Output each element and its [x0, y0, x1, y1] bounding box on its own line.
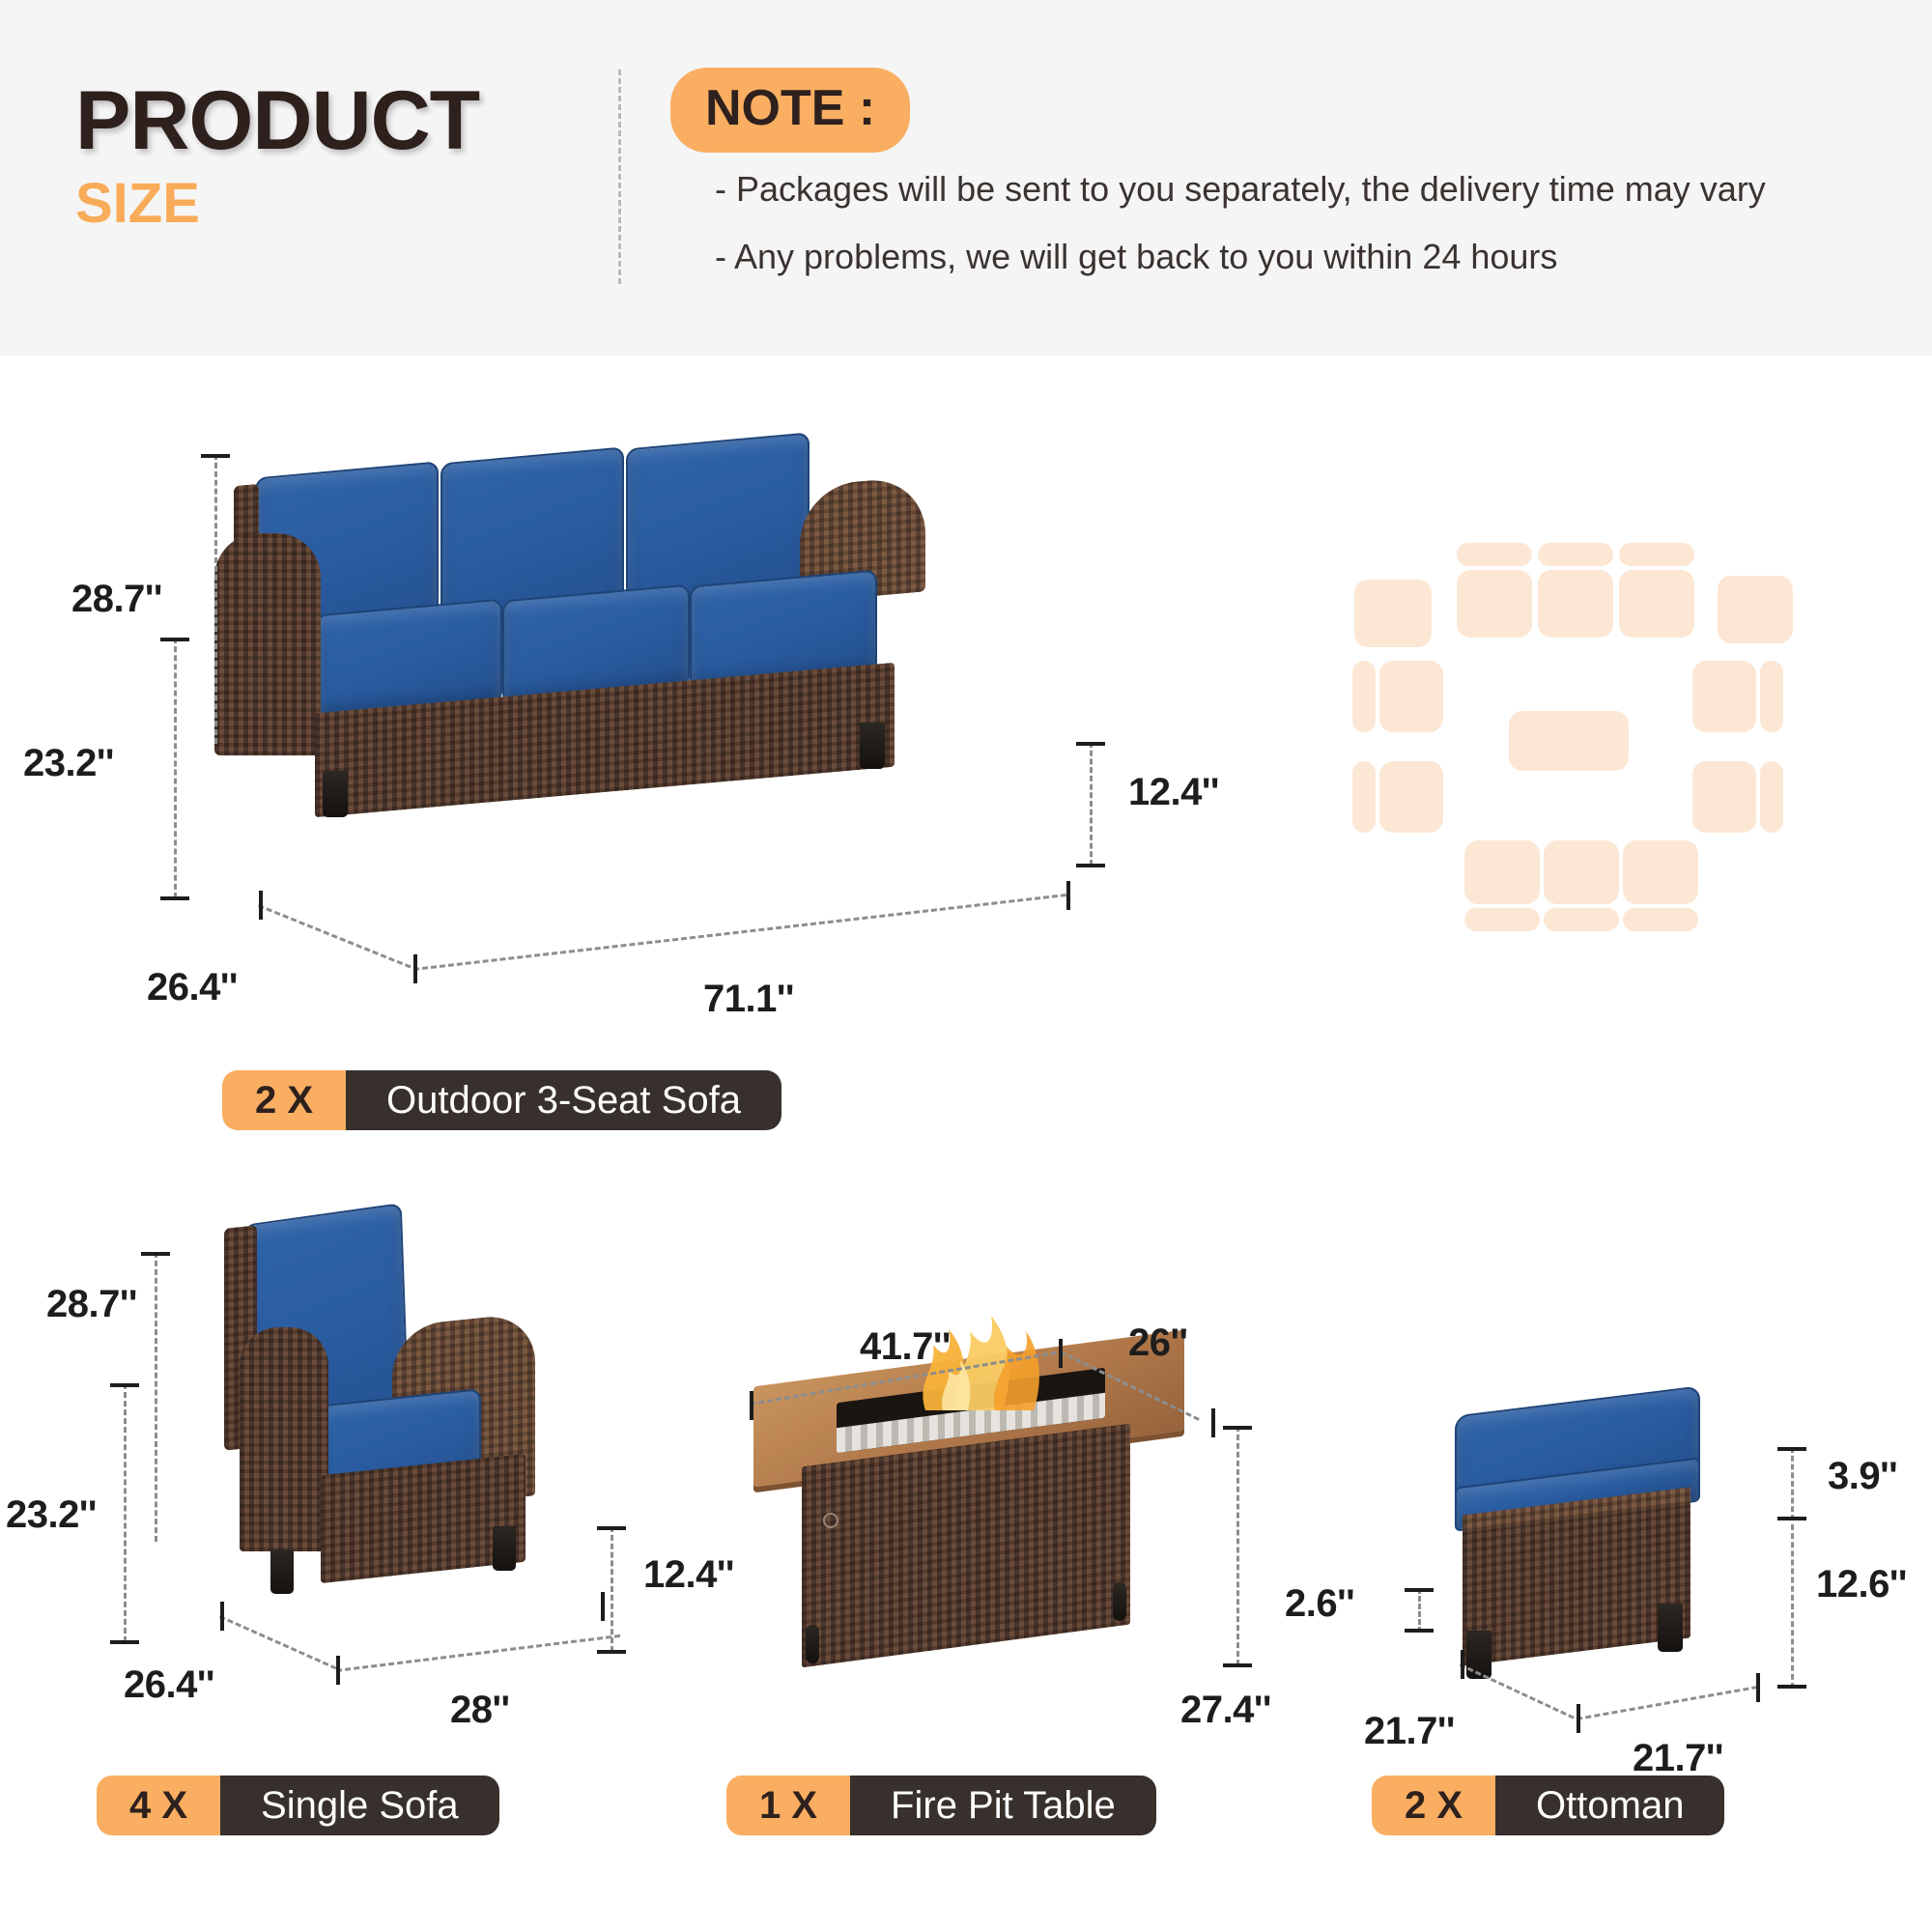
ottoman-seat-height-tick [1777, 1685, 1806, 1689]
ottoman-leg-height-rail [1418, 1588, 1421, 1633]
sofa-seat-height-tick [1076, 864, 1105, 867]
chair-seat-height-tick [597, 1526, 626, 1530]
plan-chair-back [1760, 661, 1783, 732]
sofa-arm-height-tick [160, 896, 189, 900]
chair-width-tick [601, 1592, 605, 1621]
badge-name: Fire Pit Table [850, 1776, 1156, 1835]
page-title: PRODUCT SIZE [75, 79, 479, 232]
ottoman-cushion-tick [1777, 1517, 1806, 1520]
ottoman-illustration [1449, 1401, 1777, 1739]
plan-sofa-back [1619, 543, 1694, 566]
note-badge: NOTE : [670, 68, 910, 153]
plan-sofa-seat [1464, 840, 1540, 904]
sofa-arm-height-rail [174, 638, 177, 898]
chair-back-height-tick [141, 1252, 170, 1256]
sofa-depth-tick [259, 891, 263, 920]
chair-depth-tick [220, 1602, 224, 1631]
ottoman-depth-tick [1461, 1650, 1464, 1679]
plan-chair-seat [1692, 661, 1756, 732]
chair-leg [270, 1549, 294, 1594]
sofa-seat-height-label: 12.4'' [1128, 771, 1219, 814]
chair-back-height-label: 28.7'' [46, 1283, 137, 1326]
ottoman-leg [1658, 1604, 1683, 1652]
ottoman-seat-height-rail [1791, 1524, 1794, 1689]
plan-chair-back [1352, 661, 1376, 732]
sofa-seat-height-rail [1090, 742, 1093, 866]
plan-sofa-back [1538, 543, 1613, 566]
badge-name: Single Sofa [220, 1776, 499, 1835]
ottoman-width-tick [1756, 1673, 1760, 1702]
sofa-back-height-tick [201, 454, 230, 458]
sofa-arm-height-tick [160, 638, 189, 641]
badge-qty: 2 X [1372, 1776, 1495, 1835]
firepit-depth-tick [1211, 1408, 1215, 1437]
title-main: PRODUCT [75, 79, 479, 162]
plan-chair-back [1760, 761, 1783, 833]
sofa-depth-label: 26.4'' [147, 966, 238, 1009]
furniture-layout-plan [1333, 522, 1816, 956]
chair-width-label: 28'' [450, 1689, 510, 1732]
firepit-length-label: 41.7'' [860, 1325, 951, 1369]
single-sofa-illustration [213, 1227, 618, 1633]
plan-chair-seat [1379, 661, 1443, 732]
badge-qty: 1 X [726, 1776, 850, 1835]
chair-width-line [336, 1634, 620, 1672]
sofa-width-tick [413, 954, 417, 983]
sofa-width-tick [1066, 881, 1070, 910]
sofa-leg [323, 771, 348, 817]
note-list: - Packages will be sent to you separatel… [715, 172, 1766, 307]
plan-sofa-seat [1619, 570, 1694, 638]
badge-name: Ottoman [1495, 1776, 1724, 1835]
chair-seat-height-label: 12.4'' [643, 1553, 734, 1597]
firepit-length-tick [750, 1391, 753, 1420]
badge-outdoor-3-seat-sofa: 2 X Outdoor 3-Seat Sofa [222, 1070, 781, 1130]
firepit-height-label: 27.4'' [1180, 1689, 1271, 1732]
sofa-illustration [222, 464, 1111, 927]
ottoman-seat-height-label: 12.6'' [1816, 1563, 1907, 1606]
note-badge-label: NOTE : [705, 80, 875, 136]
fire-pit-leg [806, 1625, 819, 1663]
ottoman-cushion-label: 3.9'' [1828, 1455, 1897, 1498]
plan-ottoman [1718, 576, 1793, 643]
chair-arm-height-rail [124, 1383, 127, 1642]
chair-arm-height-label: 23.2'' [6, 1493, 97, 1537]
ottoman-cushion-rail [1791, 1447, 1794, 1520]
plan-fire-pit-table [1509, 711, 1629, 771]
firepit-height-rail [1236, 1426, 1239, 1665]
sofa-seat-height-tick [1076, 742, 1105, 746]
ottoman-leg-height-tick [1405, 1629, 1434, 1633]
chair-seat-height-tick [597, 1650, 626, 1654]
chair-back-height-rail [155, 1252, 157, 1542]
firepit-depth-tick [1059, 1339, 1063, 1368]
plan-ottoman [1354, 580, 1432, 647]
badge-qty: 4 X [97, 1776, 220, 1835]
title-sub: SIZE [75, 176, 479, 232]
badge-single-sofa: 4 X Single Sofa [97, 1776, 499, 1835]
fire-pit-knob-icon [823, 1513, 838, 1528]
badge-fire-pit-table: 1 X Fire Pit Table [726, 1776, 1156, 1835]
chair-leg [493, 1526, 516, 1571]
sofa-arm-height-label: 23.2'' [23, 742, 114, 785]
note-line: - Any problems, we will get back to you … [715, 240, 1766, 274]
header-divider [618, 70, 621, 284]
ottoman-width-label: 21.7'' [1633, 1737, 1723, 1780]
plan-sofa-back [1623, 908, 1698, 931]
firepit-height-tick [1223, 1426, 1252, 1430]
header-band: PRODUCT SIZE NOTE : - Packages will be s… [0, 0, 1932, 355]
firepit-height-tick [1223, 1663, 1252, 1667]
ottoman-cushion-tick [1777, 1447, 1806, 1451]
sofa-arm-left [214, 533, 321, 755]
plan-chair-seat [1379, 761, 1443, 833]
plan-sofa-back [1457, 543, 1532, 566]
plan-chair-back [1352, 761, 1376, 833]
chair-arm-height-tick [110, 1383, 139, 1387]
ottoman-width-tick [1577, 1704, 1580, 1733]
chair-seat-height-rail [611, 1526, 613, 1652]
badge-qty: 2 X [222, 1070, 346, 1130]
fire-pit-illustration [773, 1352, 1236, 1719]
sofa-back-height-rail [214, 454, 217, 744]
badge-ottoman: 2 X Ottoman [1372, 1776, 1724, 1835]
plan-sofa-back [1464, 908, 1540, 931]
plan-sofa-seat [1457, 570, 1532, 638]
plan-sofa-seat [1544, 840, 1619, 904]
ottoman-leg-height-label: 2.6'' [1285, 1582, 1354, 1626]
fire-pit-leg [1113, 1582, 1126, 1621]
plan-chair-seat [1692, 761, 1756, 833]
chair-arm-left [240, 1327, 328, 1551]
plan-sofa-back [1544, 908, 1619, 931]
fire-pit-body [802, 1424, 1130, 1668]
sofa-back-height-label: 28.7'' [71, 578, 162, 621]
sofa-width-label: 71.1'' [703, 978, 794, 1021]
badge-name: Outdoor 3-Seat Sofa [346, 1070, 781, 1130]
chair-width-tick [336, 1656, 340, 1685]
sofa-leg [860, 723, 885, 769]
note-line: - Packages will be sent to you separatel… [715, 172, 1766, 207]
chair-depth-label: 26.4'' [124, 1663, 214, 1707]
chair-arm-height-tick [110, 1640, 139, 1644]
firepit-depth-label: 26'' [1128, 1321, 1188, 1365]
plan-sofa-seat [1538, 570, 1613, 638]
plan-sofa-seat [1623, 840, 1698, 904]
ottoman-depth-label: 21.7'' [1364, 1710, 1455, 1753]
ottoman-leg-height-tick [1405, 1588, 1434, 1592]
